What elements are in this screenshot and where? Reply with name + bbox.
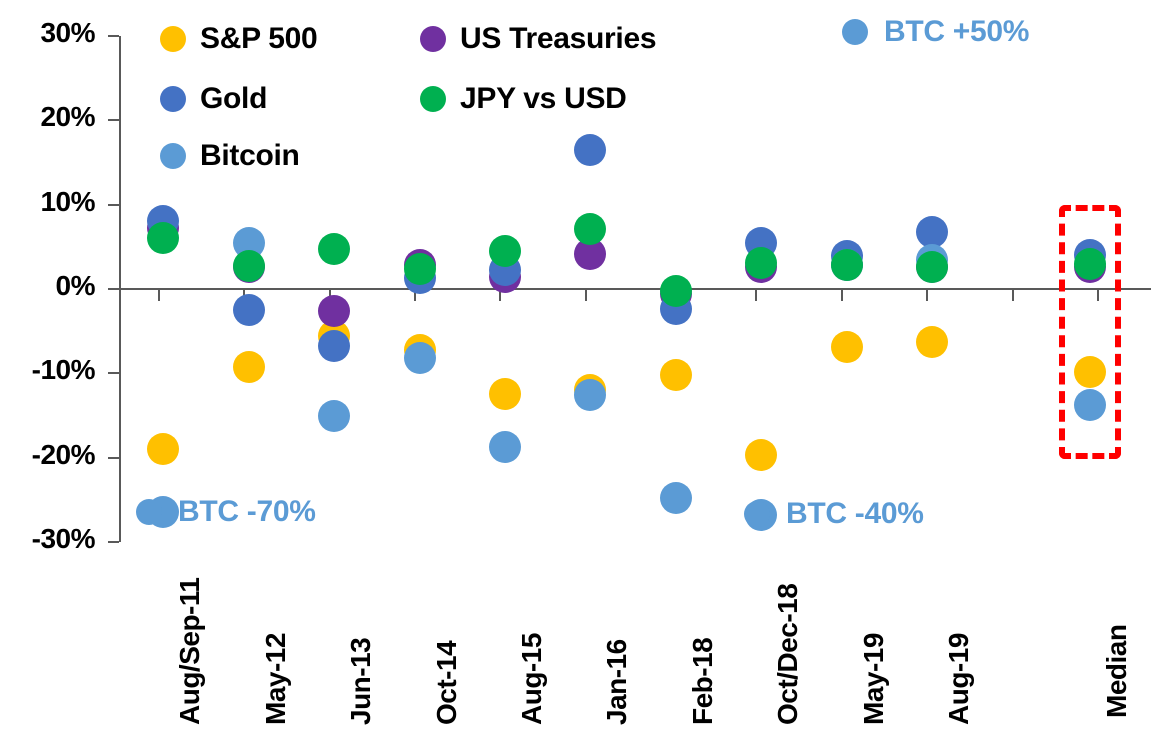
data-point-marker (489, 235, 521, 267)
legend-color-swatch-icon (160, 26, 186, 52)
x-axis-tick (755, 290, 757, 301)
x-axis-category-label: Aug/Sep-11 (174, 578, 206, 725)
data-point-marker (916, 251, 948, 283)
legend-item-bitcoin[interactable]: Bitcoin (160, 139, 300, 173)
x-axis-category-label: May-19 (858, 633, 890, 725)
data-point-marker (1074, 248, 1106, 280)
data-point-marker (318, 233, 350, 265)
legend-color-swatch-icon (160, 86, 186, 112)
data-point-marker (916, 326, 948, 358)
legend-item-gold[interactable]: Gold (160, 82, 267, 116)
data-point-marker (489, 378, 521, 410)
y-axis-tick (108, 288, 119, 290)
x-axis-category-label: Oct-14 (431, 641, 463, 725)
x-axis-category-label: Jan-16 (601, 639, 633, 725)
annotation-btc-plus-50-label: BTC +50% (884, 15, 1029, 49)
data-point-marker (318, 400, 350, 432)
x-axis-tick (926, 290, 928, 301)
legend-item-label: JPY vs USD (460, 82, 627, 116)
x-axis-category-label: Oct/Dec-18 (772, 584, 804, 725)
data-point-marker (574, 379, 606, 411)
y-axis-tick-label: 20% (0, 101, 95, 133)
data-point-marker (831, 249, 863, 281)
x-axis-tick (585, 290, 587, 301)
data-point-marker (574, 134, 606, 166)
x-axis-tick (1012, 290, 1014, 301)
data-point-marker (318, 295, 350, 327)
data-point-marker (660, 275, 692, 307)
legend-color-swatch-icon (420, 26, 446, 52)
x-axis-category-label: Jun-13 (345, 638, 377, 725)
data-point-marker (233, 294, 265, 326)
data-point-marker (574, 213, 606, 245)
data-point-marker (318, 330, 350, 362)
x-axis-category-label: Aug-19 (943, 633, 975, 725)
legend-color-swatch-icon (420, 86, 446, 112)
data-point-marker (831, 331, 863, 363)
y-axis-tick (108, 541, 119, 543)
legend-item-label: S&P 500 (200, 22, 317, 56)
legend-item-jpy-vs-usd[interactable]: JPY vs USD (420, 82, 627, 116)
annotation-btc-minus-40-label: BTC -40% (786, 497, 924, 531)
y-axis-tick-label: 10% (0, 186, 95, 218)
annotation-btc-minus-40: BTC -40% (744, 497, 924, 531)
y-axis-tick (108, 204, 119, 206)
y-axis-tick-label: -10% (0, 354, 95, 386)
y-axis-tick-label: -30% (0, 523, 95, 555)
x-axis-category-label: Aug-15 (516, 633, 548, 725)
bitcoin-dot-icon (136, 499, 162, 525)
data-point-marker (147, 222, 179, 254)
x-axis-tick (158, 290, 160, 301)
annotation-btc-minus-70-label: BTC -70% (178, 495, 316, 529)
y-axis-tick-label: -20% (0, 439, 95, 471)
legend-color-swatch-icon (160, 143, 186, 169)
data-point-marker (660, 359, 692, 391)
y-axis-tick (108, 372, 119, 374)
y-axis-tick-label: 30% (0, 17, 95, 49)
x-axis-tick (841, 290, 843, 301)
legend-item-label: US Treasuries (460, 22, 656, 56)
legend-item-label: Bitcoin (200, 139, 300, 173)
x-axis-category-label: Median (1101, 625, 1133, 718)
annotation-btc-plus-50: BTC +50% (842, 15, 1029, 49)
annotation-btc-minus-70: BTC -70% (136, 495, 316, 529)
data-point-marker (233, 250, 265, 282)
data-point-marker (1074, 356, 1106, 388)
x-axis-category-label: Feb-18 (687, 638, 719, 725)
y-axis-tick (108, 457, 119, 459)
data-point-marker (404, 253, 436, 285)
data-point-marker (489, 431, 521, 463)
bitcoin-dot-icon (842, 19, 868, 45)
scatter-chart: 30%20%10%0%-10%-20%-30% Aug/Sep-11May-12… (0, 0, 1151, 739)
legend-item-s-p-500[interactable]: S&P 500 (160, 22, 317, 56)
legend-item-us-treasuries[interactable]: US Treasuries (420, 22, 656, 56)
legend-item-label: Gold (200, 82, 267, 116)
bitcoin-dot-icon (744, 501, 770, 527)
y-axis-tick-label: 0% (0, 270, 95, 302)
data-point-marker (233, 351, 265, 383)
data-point-marker (404, 342, 436, 374)
x-axis-line (119, 288, 1151, 290)
data-point-marker (147, 433, 179, 465)
x-axis-category-label: May-12 (260, 633, 292, 725)
data-point-marker (745, 439, 777, 471)
y-axis-tick (108, 35, 119, 37)
y-axis-tick (108, 119, 119, 121)
data-point-marker (660, 482, 692, 514)
data-point-marker (745, 247, 777, 279)
